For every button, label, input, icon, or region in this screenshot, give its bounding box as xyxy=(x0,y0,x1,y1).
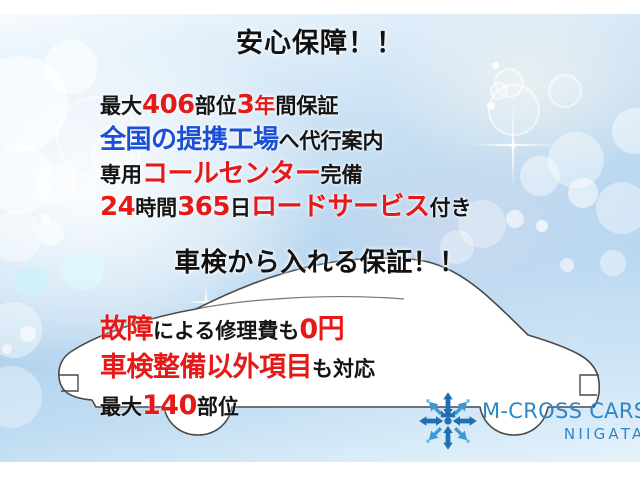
poster-canvas: 安心保障！！ 最大406部位3年間保証 全国の提携工場へ代行案内 専用コールセン… xyxy=(0,0,640,480)
text-segment: 0円 xyxy=(299,314,344,345)
text-segment: 最大 xyxy=(100,94,142,118)
text-segment: 部位 xyxy=(195,94,237,118)
page-title: 安心保障！！ xyxy=(0,30,640,57)
feature-line-non-inspection-items: 車検整備以外項目も対応 xyxy=(100,354,375,381)
feature-line-dedicated-call-center: 専用コールセンター完備 xyxy=(100,161,363,187)
text-segment: 完備 xyxy=(321,163,363,187)
text-segment: 付き xyxy=(429,196,471,220)
text-segment: も対応 xyxy=(312,357,375,381)
text-segment: 間保証 xyxy=(275,94,338,118)
feature-line-nationwide-partner-factories: 全国の提携工場へ代行案内 xyxy=(100,127,384,153)
top-border-bar xyxy=(0,0,640,14)
logo-name: M-CROSS CARS xyxy=(482,401,640,422)
text-segment: 24 xyxy=(100,192,135,222)
text-segment: 故障 xyxy=(100,314,153,345)
text-segment: 車検整備以外項目 xyxy=(100,352,312,383)
text-segment: へ代行案内 xyxy=(279,129,384,153)
text-segment: 専用 xyxy=(100,163,142,187)
feature-line-warranty-parts-years: 最大406部位3年間保証 xyxy=(100,92,338,118)
text-segment: 最大 xyxy=(100,395,142,419)
text-segment: 日 xyxy=(230,196,251,220)
snowflake-icon xyxy=(418,391,478,451)
text-segment: コールセンター xyxy=(142,159,321,189)
feature-line-repair-cost-zero: 故障による修理費も0円 xyxy=(100,316,344,343)
feature-line-max-140-parts: 最大140部位 xyxy=(100,392,239,419)
text-segment: ロードサービス xyxy=(251,192,430,222)
text-segment: 年 xyxy=(254,94,275,118)
text-segment: 全国の提携工場 xyxy=(100,125,279,155)
text-segment: 時間 xyxy=(135,196,177,220)
text-segment: 3 xyxy=(237,90,255,120)
text-segment: 406 xyxy=(142,90,195,120)
text-segment: 365 xyxy=(177,192,230,222)
text-segment: 部位 xyxy=(197,395,239,419)
logo-wordmark: M-CROSS CARS NIIGATA xyxy=(482,401,640,442)
feature-line-road-service-24h: 24時間365日ロードサービス付き xyxy=(100,194,471,220)
bottom-border-bar xyxy=(0,462,640,480)
brand-logo[interactable]: M-CROSS CARS NIIGATA xyxy=(418,388,632,454)
text-segment: による修理費も xyxy=(153,319,299,343)
text-segment: 140 xyxy=(142,390,197,421)
section-subtitle: 車検から入れる保証！！ xyxy=(0,250,640,276)
logo-subtitle: NIIGATA xyxy=(564,427,640,442)
